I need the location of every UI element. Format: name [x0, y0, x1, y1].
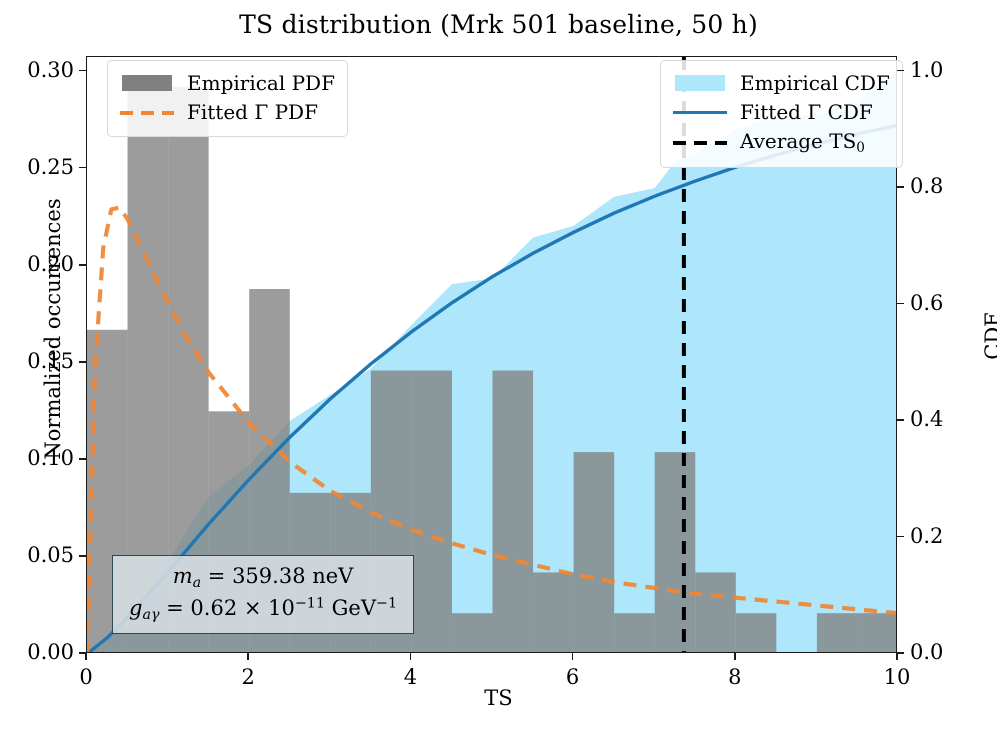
histogram-bar	[493, 371, 534, 652]
legend-swatch-empirical-cdf	[673, 73, 727, 93]
histogram-bar	[452, 613, 493, 652]
y-tick-label-left: 0.10	[4, 448, 74, 469]
y-tick-label-left: 0.05	[4, 545, 74, 566]
y-tick-mark-right	[897, 303, 904, 305]
y-tick-mark-left	[79, 555, 86, 557]
y-tick-mark-right	[897, 70, 904, 72]
y-tick-label-left: 0.20	[4, 254, 74, 275]
patch-icon	[122, 75, 172, 91]
y-tick-label-right: 0.6	[910, 293, 980, 314]
histogram-bar	[655, 452, 696, 652]
parameter-annotation-box: ma = 359.38 neV gaγ = 0.62 × 10−11 GeV−1	[112, 555, 414, 634]
legend-item-empirical-cdf[interactable]: Empirical CDF	[673, 69, 890, 98]
legend-swatch-fitted-gamma-cdf	[673, 102, 727, 122]
legend-swatch-average-ts0	[673, 132, 727, 152]
annotation-line-coupling: gaγ = 0.62 × 10−11 GeV−1	[129, 594, 397, 626]
y-tick-label-right: 0.8	[910, 176, 980, 197]
y-tick-label-right: 0.2	[910, 526, 980, 547]
y-tick-label-left: 0.15	[4, 351, 74, 372]
y-tick-mark-right	[897, 186, 904, 188]
y-axis-label: Normalized occurrences	[41, 29, 65, 629]
patch-icon	[675, 75, 725, 91]
x-tick-mark	[734, 653, 736, 660]
x-tick-label: 0	[56, 665, 116, 689]
y-tick-label-right: 0.4	[910, 409, 980, 430]
chart-canvas: TS distribution (Mrk 501 baseline, 50 h)…	[0, 0, 997, 733]
legend-item-average-ts0[interactable]: Average TS0	[673, 127, 890, 158]
legend-label-average-ts0: Average TS0	[740, 127, 865, 158]
y-tick-label-right: 1.0	[910, 60, 980, 81]
legend-item-fitted-gamma-cdf[interactable]: Fitted Γ CDF	[673, 98, 890, 127]
x-tick-label: 10	[867, 665, 927, 689]
histogram-bar	[533, 572, 574, 652]
legend-label-fitted-gamma-cdf: Fitted Γ CDF	[740, 98, 873, 127]
histogram-bar	[574, 452, 615, 652]
legend-swatch-fitted-gamma-pdf	[120, 102, 174, 122]
y-tick-mark-right	[897, 419, 904, 421]
x-tick-mark	[247, 653, 249, 660]
legend-label-empirical-cdf: Empirical CDF	[740, 69, 890, 98]
annotation-line-mass: ma = 359.38 neV	[129, 562, 397, 594]
histogram-bar	[736, 613, 777, 652]
legend-label-fitted-gamma-pdf: Fitted Γ PDF	[187, 98, 318, 127]
x-tick-label: 4	[380, 665, 440, 689]
legend-item-empirical-pdf[interactable]: Empirical PDF	[120, 69, 335, 98]
y-axis-right-label: CDF	[981, 36, 997, 636]
x-tick-mark	[572, 653, 574, 660]
y-tick-mark-right	[897, 536, 904, 538]
y-tick-mark-right	[897, 652, 904, 654]
x-tick-mark	[410, 653, 412, 660]
y-tick-label-right: 0.0	[910, 642, 980, 663]
histogram-bar	[857, 613, 896, 652]
y-tick-mark-left	[79, 167, 86, 169]
y-tick-mark-left	[79, 361, 86, 363]
x-tick-label: 2	[218, 665, 278, 689]
histogram-bar	[695, 572, 736, 652]
histogram-bar	[817, 613, 858, 652]
y-tick-mark-left	[79, 458, 86, 460]
histogram-bar	[614, 613, 655, 652]
y-tick-label-left: 0.30	[4, 60, 74, 81]
x-axis-label: TS	[0, 686, 997, 710]
y-tick-label-left: 0.00	[4, 642, 74, 663]
y-tick-mark-left	[79, 70, 86, 72]
dashed-line-icon	[120, 111, 174, 115]
legend-cdf[interactable]: Empirical CDF Fitted Γ CDF Average TS0	[660, 60, 903, 168]
dashed-line-icon	[673, 141, 727, 145]
histogram-bar	[411, 371, 452, 652]
y-tick-label-left: 0.25	[4, 157, 74, 178]
legend-item-fitted-gamma-pdf[interactable]: Fitted Γ PDF	[120, 98, 335, 127]
legend-label-sub: 0	[856, 139, 865, 155]
legend-swatch-empirical-pdf	[120, 73, 174, 93]
x-tick-mark	[896, 653, 898, 660]
legend-pdf[interactable]: Empirical PDF Fitted Γ PDF	[107, 60, 348, 137]
chart-title: TS distribution (Mrk 501 baseline, 50 h)	[0, 10, 997, 39]
legend-label-empirical-pdf: Empirical PDF	[187, 69, 335, 98]
x-tick-label: 6	[543, 665, 603, 689]
y-tick-mark-left	[79, 264, 86, 266]
x-tick-label: 8	[705, 665, 765, 689]
x-tick-mark	[85, 653, 87, 660]
solid-line-icon	[673, 111, 727, 114]
